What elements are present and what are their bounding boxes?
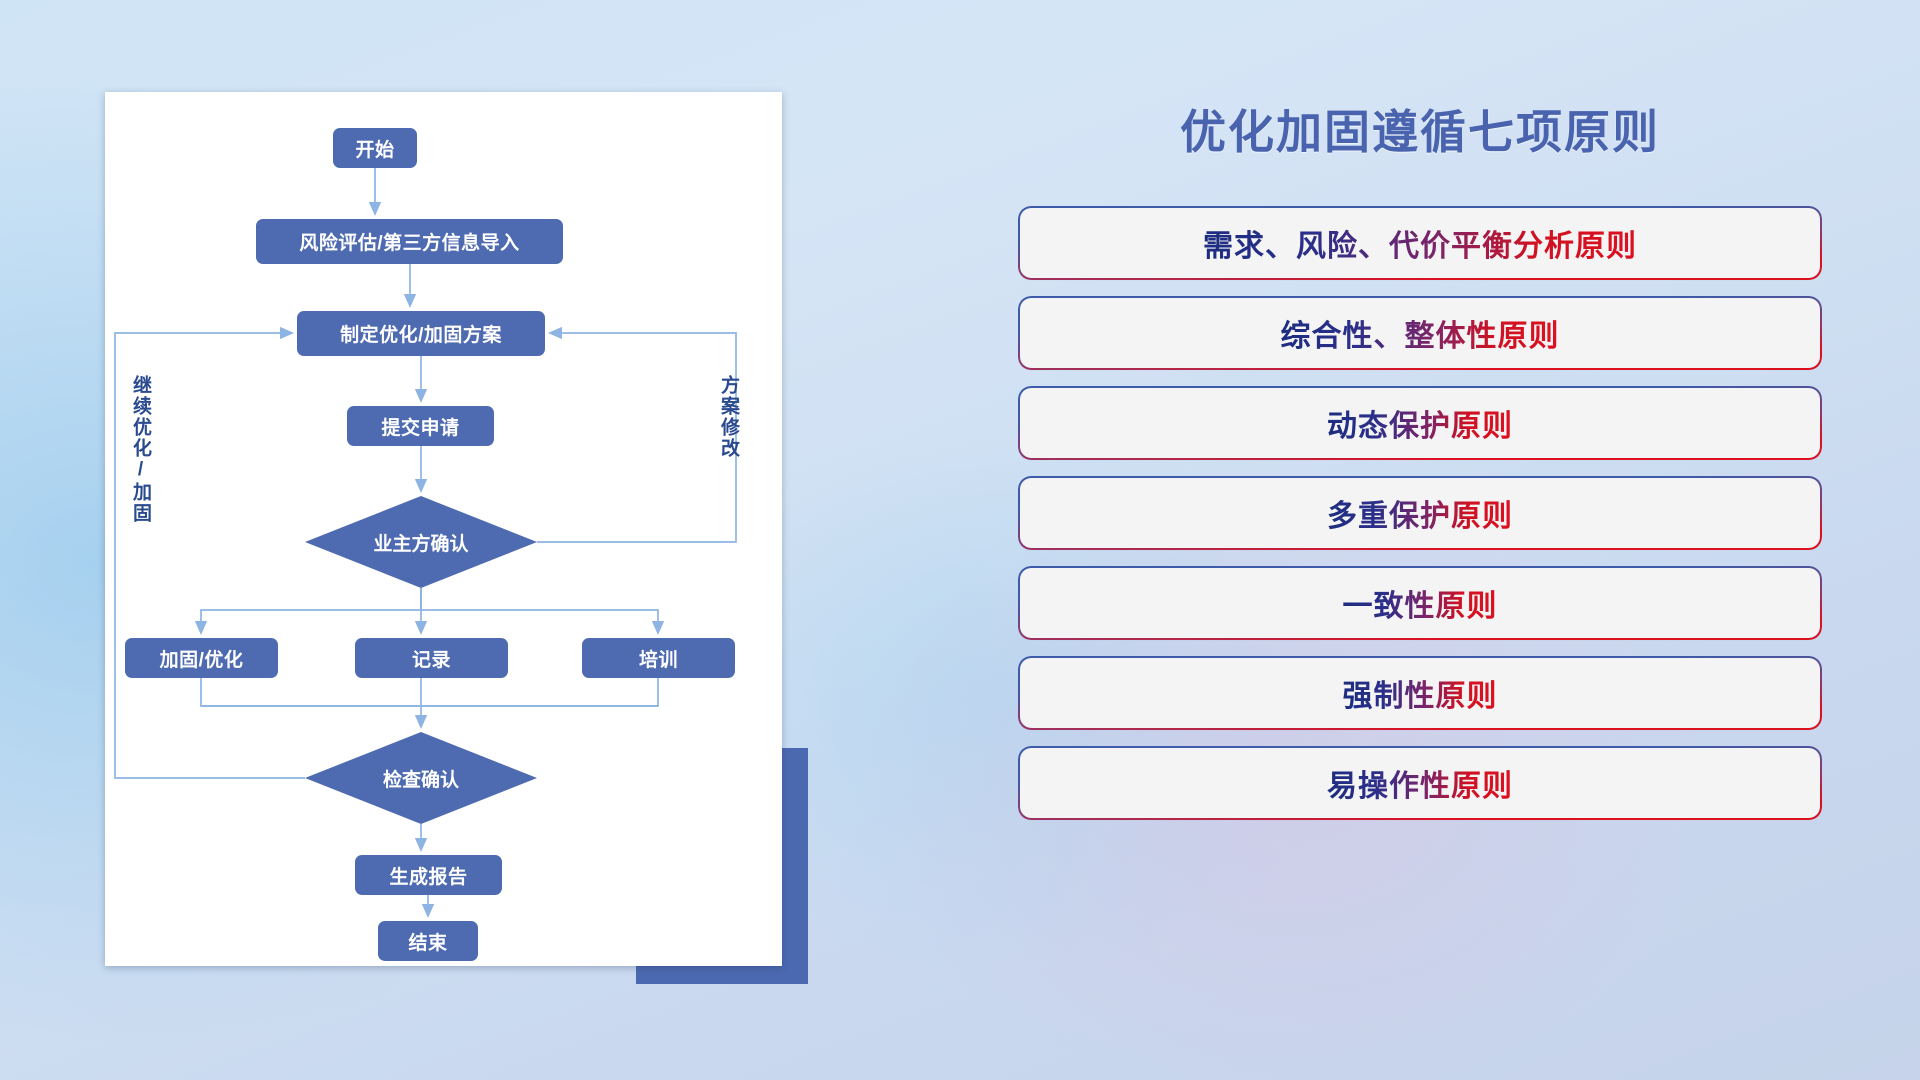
flow-node-start[interactable]: 开始 [333, 128, 417, 168]
principle-item-4[interactable]: 多重保护原则 [1020, 478, 1820, 548]
flow-node-report[interactable]: 生成报告 [355, 855, 502, 895]
principle-item-5[interactable]: 一致性原则 [1020, 568, 1820, 638]
principle-label: 强制性原则 [1343, 671, 1498, 715]
page-title: 优化加固遵循七项原则 [1020, 96, 1820, 162]
flowchart-card: 开始 风险评估/第三方信息导入 制定优化/加固方案 提交申请 业主方确认 加固/… [105, 92, 782, 966]
principle-label: 多重保护原则 [1327, 491, 1513, 535]
principle-label: 易操作性原则 [1327, 761, 1513, 805]
principle-label: 需求、风险、代价平衡分析原则 [1203, 221, 1637, 265]
principle-item-3[interactable]: 动态保护原则 [1020, 388, 1820, 458]
flow-node-training[interactable]: 培训 [582, 638, 735, 678]
flow-node-submit[interactable]: 提交申请 [347, 406, 494, 446]
principle-item-6[interactable]: 强制性原则 [1020, 658, 1820, 728]
flow-node-plan[interactable]: 制定优化/加固方案 [297, 311, 545, 356]
principle-label: 综合性、整体性原则 [1281, 311, 1560, 355]
flow-node-owner-confirm-label: 业主方确认 [305, 496, 537, 588]
principles-panel: 优化加固遵循七项原则 需求、风险、代价平衡分析原则 综合性、整体性原则 动态保护… [1020, 96, 1820, 996]
principle-item-1[interactable]: 需求、风险、代价平衡分析原则 [1020, 208, 1820, 278]
flow-node-check-confirm-label: 检查确认 [305, 732, 537, 824]
principle-label: 一致性原则 [1343, 581, 1498, 625]
principle-item-7[interactable]: 易操作性原则 [1020, 748, 1820, 818]
flow-edge-label-plan-revision: 方案修改 [719, 375, 738, 459]
flow-node-owner-confirm[interactable]: 业主方确认 [305, 496, 537, 588]
flow-node-reinforce[interactable]: 加固/优化 [125, 638, 278, 678]
flow-edge-label-continue-optimize: 继续优化/加固 [131, 375, 150, 524]
flow-node-end[interactable]: 结束 [378, 921, 478, 961]
flow-node-record[interactable]: 记录 [355, 638, 508, 678]
flow-node-check-confirm[interactable]: 检查确认 [305, 732, 537, 824]
principle-item-2[interactable]: 综合性、整体性原则 [1020, 298, 1820, 368]
flow-node-risk[interactable]: 风险评估/第三方信息导入 [256, 219, 563, 264]
principle-label: 动态保护原则 [1327, 401, 1513, 445]
